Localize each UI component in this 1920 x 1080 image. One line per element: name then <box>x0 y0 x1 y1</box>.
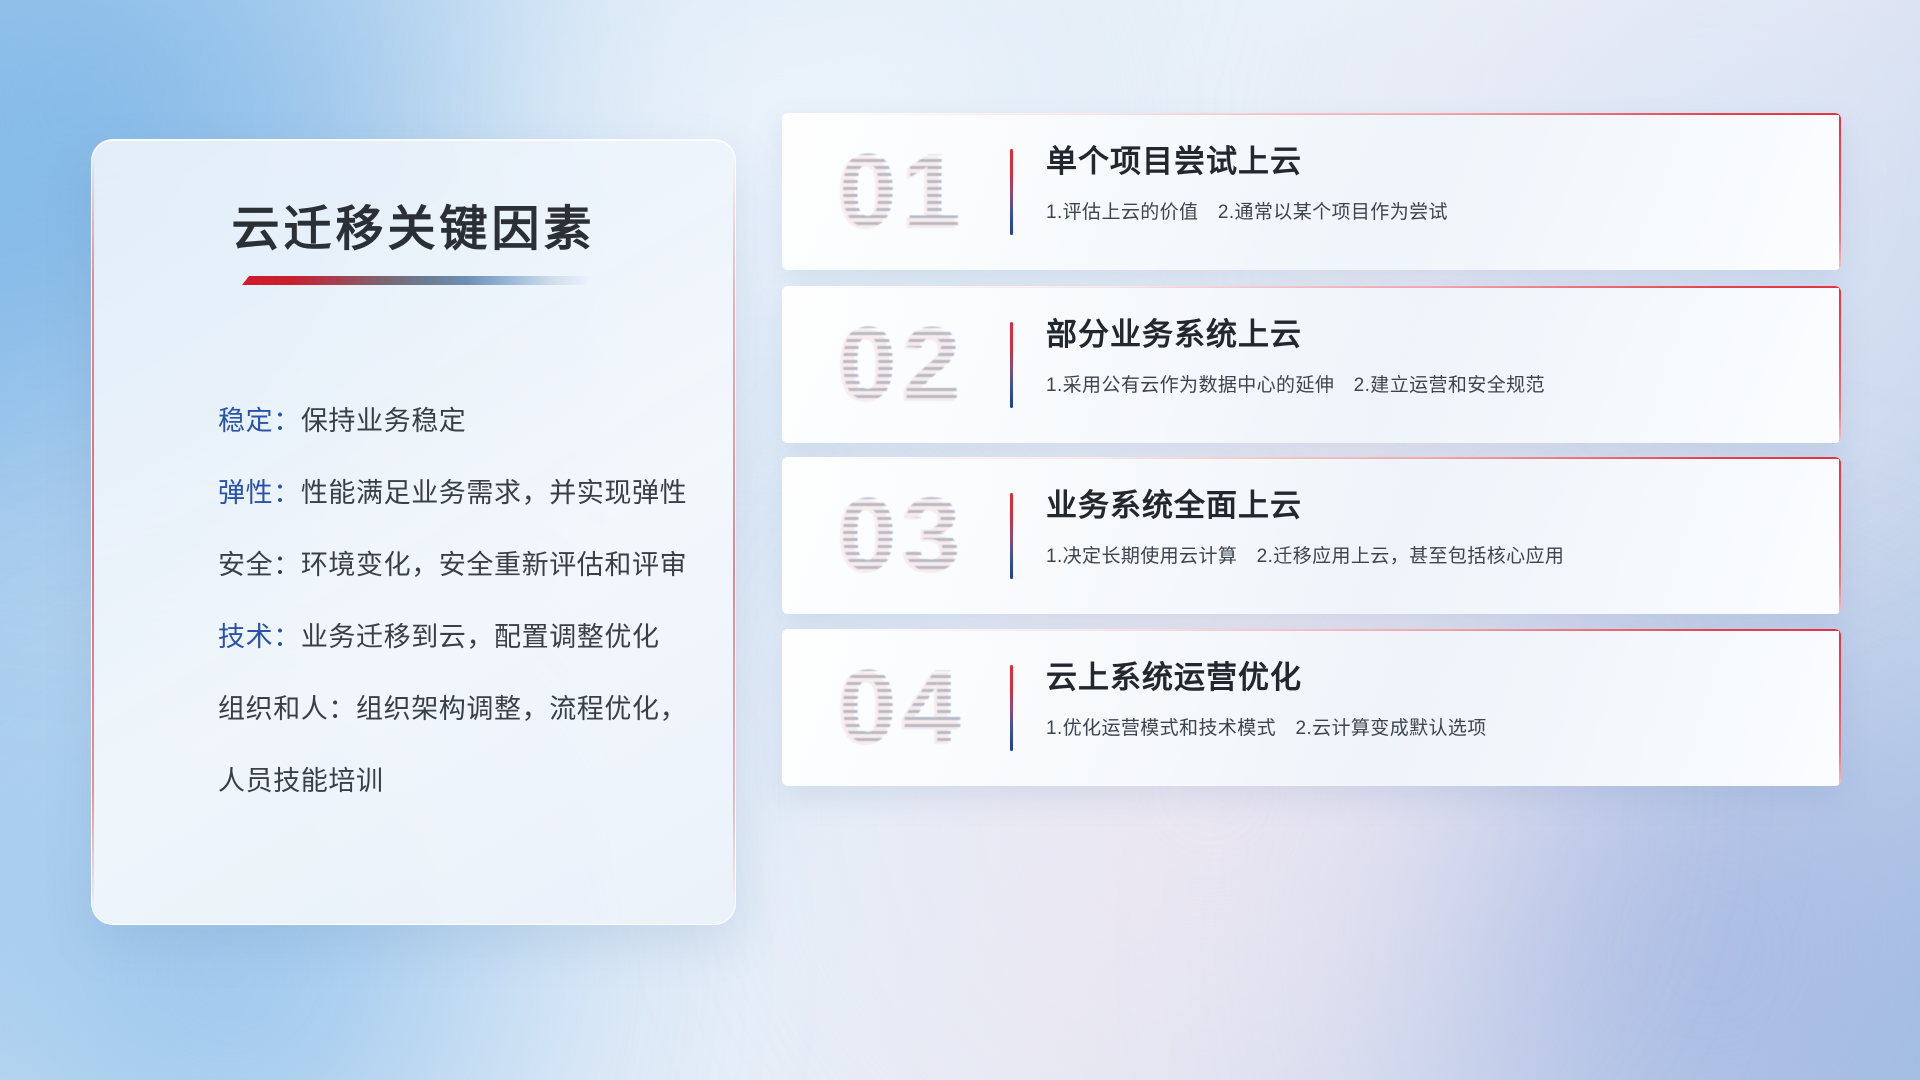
factor-text: 业务迁移到云，配置调整优化 <box>301 622 660 652</box>
list-item: 组织和人：组织架构调整，流程优化， <box>218 673 681 745</box>
step-number-text: 04 <box>839 649 967 765</box>
step-accent-bar <box>1010 322 1013 408</box>
step-body: 业务系统全面上云 1.决定长期使用云计算 2.迁移应用上云，甚至包括核心应用 <box>1046 483 1801 571</box>
step-description: 1.评估上云的价值 2.通常以某个项目作为尝试 <box>1046 199 1801 227</box>
step-card-03[interactable]: 03 03 业务系统全面上云 1.决定长期使用云计算 2.迁移应用上云，甚至包括… <box>782 457 1841 614</box>
step-body: 部分业务系统上云 1.采用公有云作为数据中心的延伸 2.建立运营和安全规范 <box>1046 312 1801 400</box>
step-number-04: 04 04 <box>808 647 998 767</box>
step-title: 云上系统运营优化 <box>1046 655 1801 701</box>
step-card-01[interactable]: 01 01 单个项目尝试上云 1.评估上云的价值 2.通常以某个项目作为尝试 <box>782 113 1841 270</box>
slide-stage: 云迁移关键因素 稳定：保持业务稳定 弹性：性能满足业务需求，并实现弹性 安全：环… <box>0 0 1920 1080</box>
step-card-04[interactable]: 04 04 云上系统运营优化 1.优化运营模式和技术模式 2.云计算变成默认选项 <box>782 629 1841 786</box>
factor-label: 组织和人： <box>218 694 356 724</box>
step-number-text: 01 <box>839 133 967 249</box>
factor-label: 技术： <box>218 622 301 652</box>
title-underline-rule <box>242 276 594 285</box>
factor-text: 组织架构调整，流程优化， <box>356 694 687 724</box>
step-number-01: 01 01 <box>808 131 998 251</box>
list-item: 技术：业务迁移到云，配置调整优化 <box>218 601 681 673</box>
key-factors-list: 稳定：保持业务稳定 弹性：性能满足业务需求，并实现弹性 安全：环境变化，安全重新… <box>218 385 681 817</box>
step-number-03: 03 03 <box>808 475 998 595</box>
step-title: 业务系统全面上云 <box>1046 483 1801 529</box>
factor-text: 环境变化，安全重新评估和评审 <box>301 550 687 580</box>
list-item: 安全：环境变化，安全重新评估和评审 <box>218 529 681 601</box>
step-accent-bar <box>1010 665 1013 751</box>
step-card-02[interactable]: 02 02 部分业务系统上云 1.采用公有云作为数据中心的延伸 2.建立运营和安… <box>782 286 1841 443</box>
factor-text: 性能满足业务需求，并实现弹性 <box>301 478 687 508</box>
list-item-continuation: 人员技能培训 <box>218 745 681 817</box>
step-title: 单个项目尝试上云 <box>1046 139 1801 185</box>
factor-label: 安全： <box>218 550 301 580</box>
step-title: 部分业务系统上云 <box>1046 312 1801 358</box>
list-item: 弹性：性能满足业务需求，并实现弹性 <box>218 457 681 529</box>
factor-text: 保持业务稳定 <box>301 406 467 436</box>
factor-label: 稳定： <box>218 406 301 436</box>
step-body: 单个项目尝试上云 1.评估上云的价值 2.通常以某个项目作为尝试 <box>1046 139 1801 227</box>
factor-label: 弹性： <box>218 478 301 508</box>
factor-text: 人员技能培训 <box>218 766 384 796</box>
step-description: 1.决定长期使用云计算 2.迁移应用上云，甚至包括核心应用 <box>1046 543 1801 571</box>
step-accent-bar <box>1010 493 1013 579</box>
step-body: 云上系统运营优化 1.优化运营模式和技术模式 2.云计算变成默认选项 <box>1046 655 1801 743</box>
step-description: 1.采用公有云作为数据中心的延伸 2.建立运营和安全规范 <box>1046 372 1801 400</box>
key-factors-panel: 云迁移关键因素 稳定：保持业务稳定 弹性：性能满足业务需求，并实现弹性 安全：环… <box>91 139 736 925</box>
step-description: 1.优化运营模式和技术模式 2.云计算变成默认选项 <box>1046 715 1801 743</box>
step-number-02: 02 02 <box>808 304 998 424</box>
list-item: 稳定：保持业务稳定 <box>218 385 681 457</box>
panel-title: 云迁移关键因素 <box>92 189 735 259</box>
step-accent-bar <box>1010 149 1013 235</box>
step-number-text: 03 <box>839 477 967 593</box>
step-number-text: 02 <box>839 306 967 422</box>
